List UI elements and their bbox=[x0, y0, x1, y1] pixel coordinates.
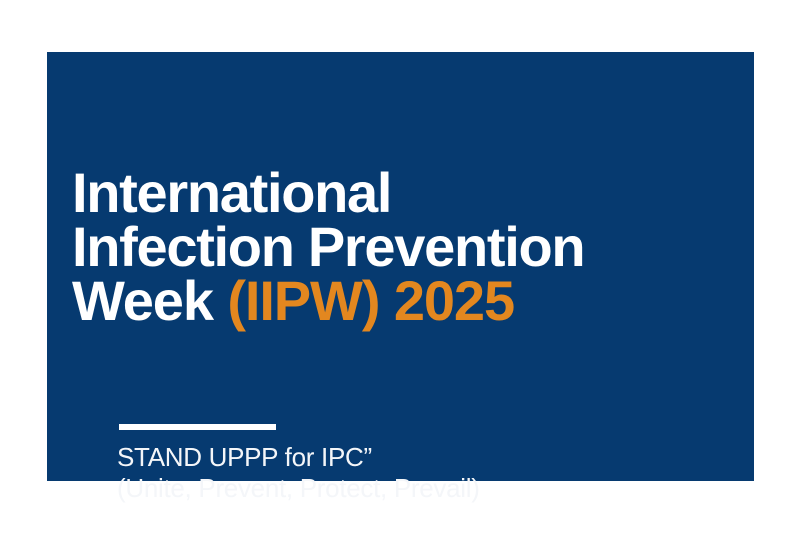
subtitle-line-1: STAND UPPP for IPC” bbox=[117, 442, 737, 473]
subtitle-group: STAND UPPP for IPC” (Unite, Prevent, Pro… bbox=[117, 442, 737, 504]
headline-divider-rule bbox=[119, 424, 276, 430]
headline-group: International Infection Prevention Week … bbox=[72, 166, 712, 328]
banner-root: International Infection Prevention Week … bbox=[0, 0, 800, 533]
headline-line-3-accent: (IIPW) 2025 bbox=[227, 269, 514, 332]
headline-line-3: Week (IIPW) 2025 bbox=[72, 274, 712, 328]
banner-panel: International Infection Prevention Week … bbox=[47, 52, 754, 481]
headline-line-3-prefix: Week bbox=[72, 269, 227, 332]
headline-line-1: International bbox=[72, 166, 712, 220]
headline-line-2: Infection Prevention bbox=[72, 220, 712, 274]
subtitle-line-2: (Unite, Prevent, Protect, Prevail) bbox=[117, 473, 737, 504]
